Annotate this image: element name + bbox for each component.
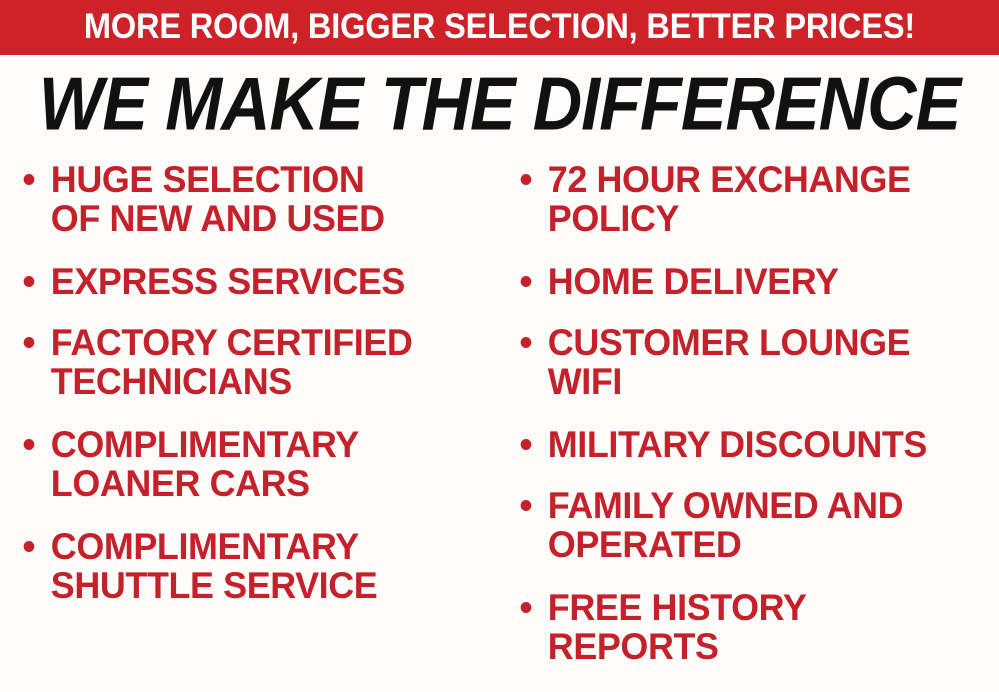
- list-item-line2: LOANER CARS: [51, 464, 478, 503]
- bullet-dot-icon: [24, 439, 35, 450]
- list-item: HOME DELIVERY: [509, 262, 975, 301]
- list-item: FACTORY CERTIFIED TECHNICIANS: [12, 323, 478, 401]
- list-item-line1: EXPRESS SERVICES: [51, 262, 478, 301]
- list-item: CUSTOMER LOUNGE WIFI: [509, 323, 975, 401]
- list-item: FREE HISTORY REPORTS: [509, 588, 975, 666]
- list-item-line1: COMPLIMENTARY: [51, 425, 478, 464]
- list-item: 72 HOUR EXCHANGE POLICY: [509, 160, 975, 238]
- list-item: FAMILY OWNED AND OPERATED: [509, 486, 975, 564]
- list-item: HUGE SELECTION OF NEW AND USED: [12, 160, 478, 238]
- list-item-line1: MILITARY DISCOUNTS: [548, 425, 975, 464]
- banner-headline: MORE ROOM, BIGGER SELECTION, BETTER PRIC…: [35, 0, 964, 55]
- bullet-dot-icon: [521, 276, 532, 287]
- list-item-line1: HUGE SELECTION: [51, 160, 478, 199]
- list-item: COMPLIMENTARY LOANER CARS: [12, 425, 478, 503]
- bullet-dot-icon: [24, 276, 35, 287]
- list-item-line1: FREE HISTORY: [548, 588, 975, 627]
- bullet-dot-icon: [521, 439, 532, 450]
- list-item-line2: POLICY: [548, 199, 975, 238]
- list-item-line2: OPERATED: [548, 525, 975, 564]
- promo-poster: MORE ROOM, BIGGER SELECTION, BETTER PRIC…: [0, 0, 999, 692]
- list-item-line2: OF NEW AND USED: [51, 199, 478, 238]
- list-item-line1: 72 HOUR EXCHANGE: [548, 160, 975, 199]
- bullet-dot-icon: [521, 337, 532, 348]
- list-item-line1: FACTORY CERTIFIED: [51, 323, 478, 362]
- bullet-dot-icon: [24, 174, 35, 185]
- top-banner: MORE ROOM, BIGGER SELECTION, BETTER PRIC…: [0, 0, 999, 55]
- list-item-line2: REPORTS: [548, 627, 975, 666]
- benefits-column-left: HUGE SELECTION OF NEW AND USED EXPRESS S…: [12, 160, 492, 692]
- list-item: EXPRESS SERVICES: [12, 262, 478, 301]
- list-item-line2: WIFI: [548, 362, 975, 401]
- benefits-columns: HUGE SELECTION OF NEW AND USED EXPRESS S…: [0, 160, 999, 692]
- list-item-line1: FAMILY OWNED AND: [548, 486, 975, 525]
- bullet-dot-icon: [24, 541, 35, 552]
- list-item: COMPLIMENTARY SHUTTLE SERVICE: [12, 527, 478, 605]
- bullet-dot-icon: [521, 500, 532, 511]
- bullet-dot-icon: [521, 174, 532, 185]
- list-item: MILITARY DISCOUNTS: [509, 425, 975, 464]
- list-item-line2: TECHNICIANS: [51, 362, 478, 401]
- bullet-dot-icon: [24, 337, 35, 348]
- list-item-line1: COMPLIMENTARY: [51, 527, 478, 566]
- list-item-line1: CUSTOMER LOUNGE: [548, 323, 975, 362]
- benefits-column-right: 72 HOUR EXCHANGE POLICY HOME DELIVERY CU…: [509, 160, 989, 692]
- list-item-line2: SHUTTLE SERVICE: [51, 566, 478, 605]
- page-title: WE MAKE THE DIFFERENCE: [25, 66, 974, 143]
- list-item-line1: HOME DELIVERY: [548, 262, 975, 301]
- bullet-dot-icon: [521, 602, 532, 613]
